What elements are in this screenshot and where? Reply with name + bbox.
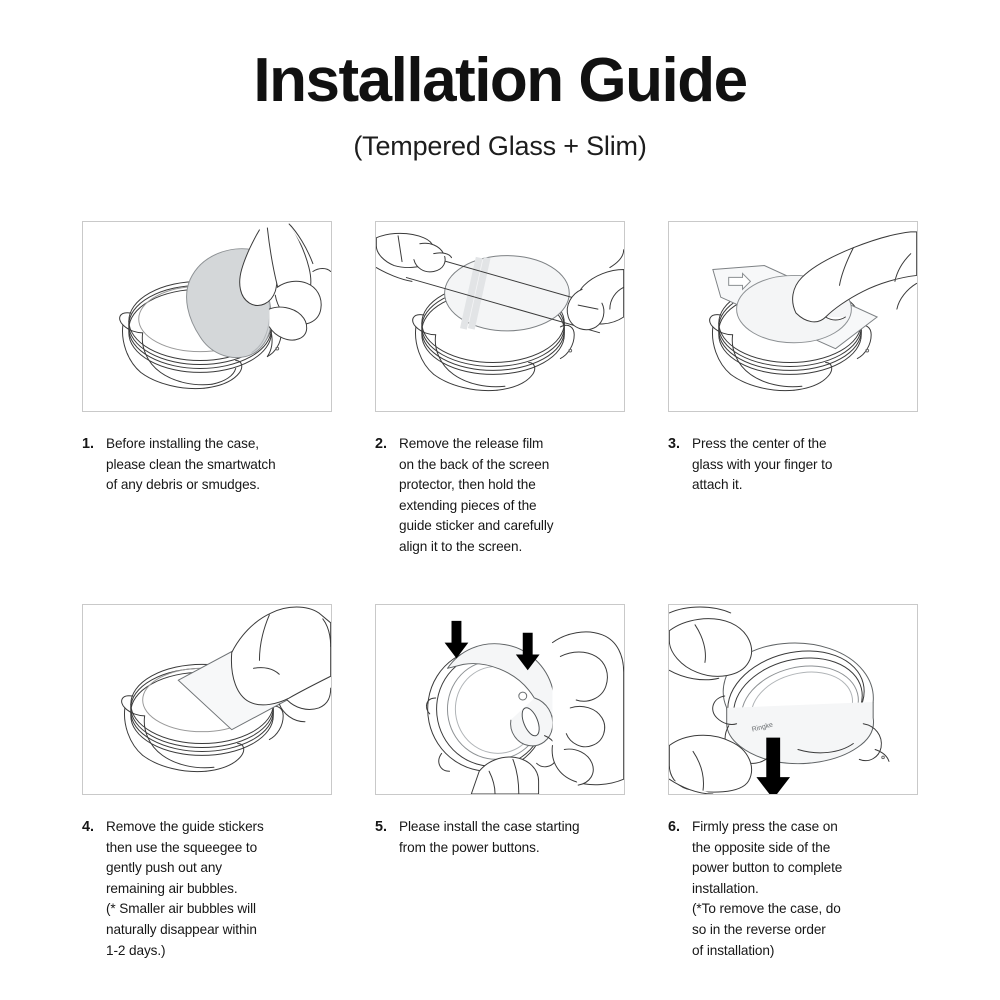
step-4-illustration [82,604,332,795]
step-3-illustration [668,221,918,412]
step-3-caption: 3. Press the center of the glass with yo… [668,434,918,496]
step-4-text: Remove the guide stickers then use the s… [106,817,332,961]
installation-guide-page: Installation Guide (Tempered Glass + Sli… [0,0,1000,1000]
steps-row-2: 4. Remove the guide stickers then use th… [82,604,918,961]
step-card-3: 3. Press the center of the glass with yo… [668,221,918,558]
step-6-text: Firmly press the case on the opposite si… [692,817,918,961]
step-card-5: 5. Please install the case starting from… [375,604,625,961]
step-6-number: 6. [668,817,692,961]
step-1-text: Before installing the case, please clean… [106,434,332,496]
step-5-number: 5. [375,817,399,858]
steps-row-1: 1. Before installing the case, please cl… [82,221,918,558]
step-card-1: 1. Before installing the case, please cl… [82,221,332,558]
step-1-caption: 1. Before installing the case, please cl… [82,434,332,496]
step-6-illustration: Ringke [668,604,918,795]
step-1-number: 1. [82,434,106,496]
step-6-caption: 6. Firmly press the case on the opposite… [668,817,918,961]
step-5-illustration [375,604,625,795]
step-5-text: Please install the case starting from th… [399,817,625,858]
step-2-text: Remove the release film on the back of t… [399,434,625,558]
step-2-illustration [375,221,625,412]
page-subtitle: (Tempered Glass + Slim) [0,131,1000,162]
step-1-illustration [82,221,332,412]
step-4-number: 4. [82,817,106,961]
step-2-number: 2. [375,434,399,558]
step-3-text: Press the center of the glass with your … [692,434,918,496]
step-2-caption: 2. Remove the release film on the back o… [375,434,625,558]
step-3-number: 3. [668,434,692,496]
page-header: Installation Guide (Tempered Glass + Sli… [0,0,1000,162]
step-card-6: Ringke [668,604,918,961]
page-title: Installation Guide [0,48,1000,113]
step-card-4: 4. Remove the guide stickers then use th… [82,604,332,961]
step-5-caption: 5. Please install the case starting from… [375,817,625,858]
step-card-2: 2. Remove the release film on the back o… [375,221,625,558]
step-4-caption: 4. Remove the guide stickers then use th… [82,817,332,961]
